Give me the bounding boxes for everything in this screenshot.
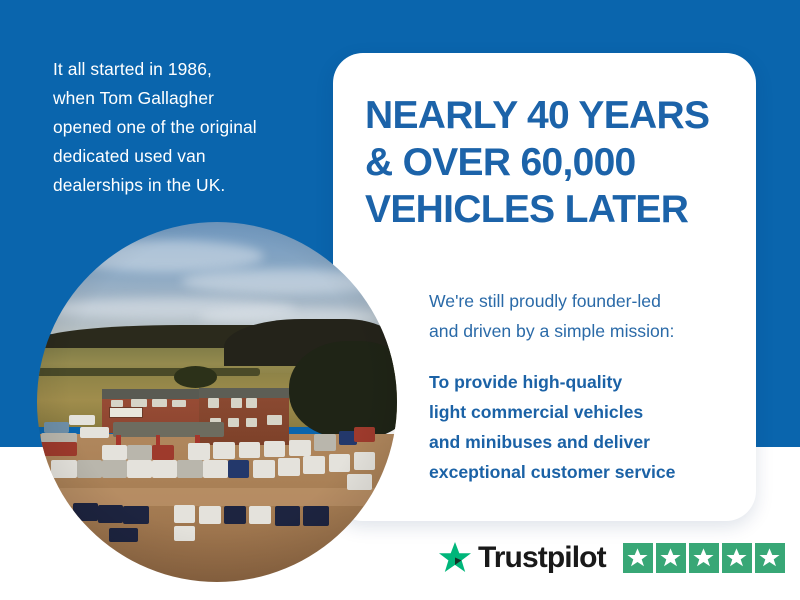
star-icon <box>660 547 681 568</box>
rating-star-2 <box>656 543 686 573</box>
mission-lead-text: We're still proudly founder-led and driv… <box>429 286 749 346</box>
trustpilot-wordmark: Trustpilot <box>478 543 606 573</box>
intro-line-1: It all started in 1986, <box>53 55 328 84</box>
promo-graphic: It all started in 1986, when Tom Gallagh… <box>0 0 800 600</box>
rating-star-4 <box>722 543 752 573</box>
photo-vignette <box>37 222 397 582</box>
star-icon <box>693 547 714 568</box>
intro-paragraph: It all started in 1986, when Tom Gallagh… <box>53 55 328 200</box>
headline-line-3: VEHICLES LATER <box>365 186 745 233</box>
trustpilot-logo[interactable]: Trustpilot <box>438 541 606 574</box>
intro-line-4: dedicated used van <box>53 142 328 171</box>
intro-line-2: when Tom Gallagher <box>53 84 328 113</box>
intro-line-5: dealerships in the UK. <box>53 171 328 200</box>
page-title: NEARLY 40 YEARS & OVER 60,000 VEHICLES L… <box>365 92 745 233</box>
mission-lead-line-2: and driven by a simple mission: <box>429 316 749 346</box>
trustpilot-rating-stars[interactable] <box>623 543 785 573</box>
mission-line-2: light commercial vehicles <box>429 397 749 427</box>
rating-star-3 <box>689 543 719 573</box>
mission-line-1: To provide high-quality <box>429 367 749 397</box>
mission-lead-line-1: We're still proudly founder-led <box>429 286 749 316</box>
rating-star-5 <box>755 543 785 573</box>
star-icon <box>627 547 648 568</box>
rating-star-1 <box>623 543 653 573</box>
mission-statement: To provide high-quality light commercial… <box>429 367 749 487</box>
photo-illustration <box>37 222 397 582</box>
star-icon <box>759 547 780 568</box>
dealership-photo <box>37 222 397 582</box>
star-icon <box>726 547 747 568</box>
intro-line-3: opened one of the original <box>53 113 328 142</box>
mission-line-4: exceptional customer service <box>429 457 749 487</box>
mission-line-3: and minibuses and deliver <box>429 427 749 457</box>
headline-line-2: & OVER 60,000 <box>365 139 745 186</box>
trustpilot-badge[interactable]: Trustpilot <box>438 541 785 574</box>
trustpilot-star-icon <box>438 541 472 574</box>
headline-line-1: NEARLY 40 YEARS <box>365 92 745 139</box>
